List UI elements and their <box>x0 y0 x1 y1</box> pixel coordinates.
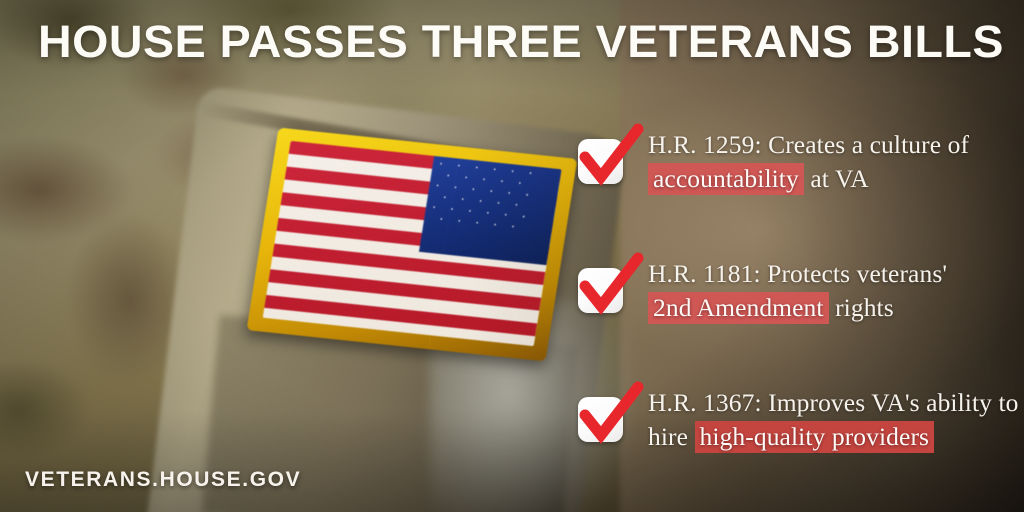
bill-line-2: 2nd Amendment rights <box>648 291 1024 325</box>
site-url-footer: VETERANS.HOUSE.GOV <box>25 468 301 492</box>
list-item: H.R. 1181: Protects veterans' 2nd Amendm… <box>578 257 1024 325</box>
list-item: H.R. 1259: Creates a culture of accounta… <box>578 128 1024 196</box>
highlight-phrase: high-quality providers <box>695 421 935 453</box>
checkbox-checked-icon <box>578 397 623 442</box>
page-title: House Passes Three Veterans Bills <box>38 17 1024 67</box>
bill-line-1: H.R. 1259: Creates a culture of <box>648 128 1024 162</box>
checkbox-checked-icon <box>578 139 623 184</box>
bill-line-1: H.R. 1181: Protects veterans' <box>648 257 1024 291</box>
bill-line-2-suffix: at VA <box>810 164 868 193</box>
infographic-canvas: House Passes Three Veterans Bills H.R. 1… <box>0 0 1024 512</box>
checkbox-checked-icon <box>578 268 623 313</box>
bill-list: H.R. 1259: Creates a culture of accounta… <box>578 128 1024 454</box>
bill-text: H.R. 1259: Creates a culture of accounta… <box>648 128 1024 196</box>
highlight-phrase: accountability <box>648 163 804 195</box>
bill-text: H.R. 1181: Protects veterans' 2nd Amendm… <box>648 257 1024 325</box>
bill-line-2: hire high-quality providers <box>648 420 1024 454</box>
bill-text: H.R. 1367: Improves VA's ability to hire… <box>648 386 1024 454</box>
bill-line-2-prefix: hire <box>648 422 688 451</box>
bill-line-1: H.R. 1367: Improves VA's ability to <box>648 386 1024 420</box>
list-item: H.R. 1367: Improves VA's ability to hire… <box>578 386 1024 454</box>
highlight-phrase: 2nd Amendment <box>648 292 829 324</box>
bill-line-2-suffix: rights <box>835 293 894 322</box>
bill-line-2: accountability at VA <box>648 162 1024 196</box>
